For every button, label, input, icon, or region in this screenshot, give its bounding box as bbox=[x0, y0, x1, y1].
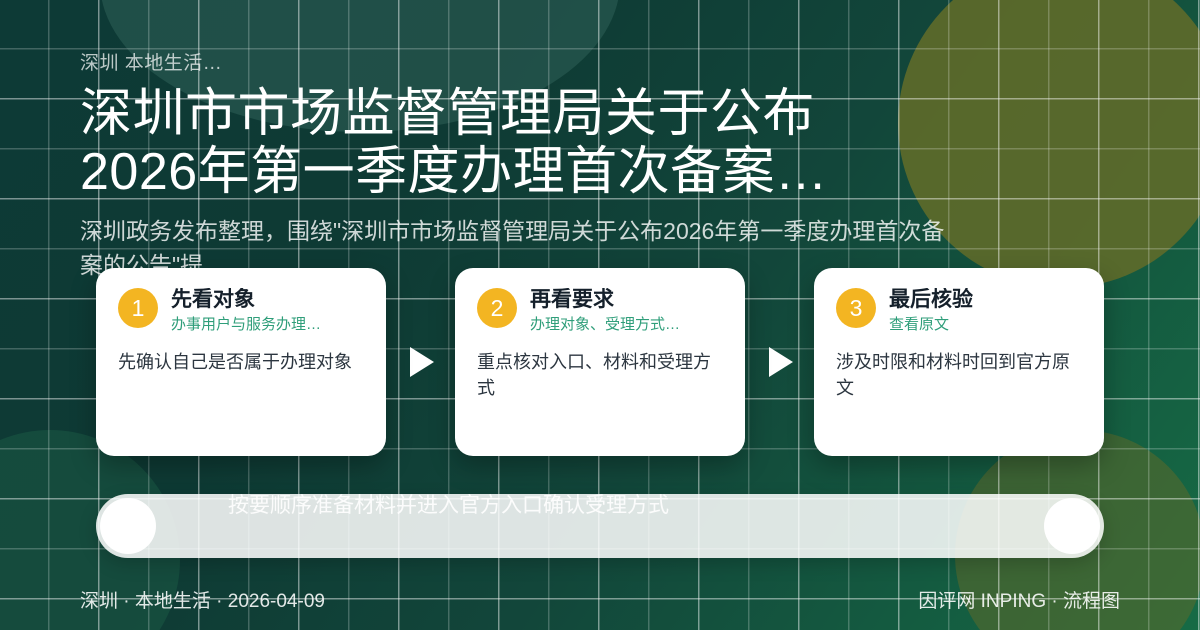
step-card-3-head: 3 最后核验 查看原文 bbox=[836, 288, 1082, 334]
step-card-1-titles: 先看对象 办事用户与服务办理… bbox=[171, 288, 321, 334]
steps-flow: 1 先看对象 办事用户与服务办理… 先确认自己是否属于办理对象 2 再看要求 办… bbox=[96, 268, 1104, 456]
step-subtitle: 办事用户与服务办理… bbox=[171, 316, 321, 334]
step-subtitle: 办理对象、受理方式… bbox=[530, 316, 680, 334]
step-body: 重点核对入口、材料和受理方式 bbox=[477, 350, 723, 401]
flow-arrow-2 bbox=[745, 268, 814, 456]
step-number-badge: 2 bbox=[477, 288, 517, 328]
kicker-label: 深圳 本地生活… bbox=[80, 52, 1120, 77]
step-card-3[interactable]: 3 最后核验 查看原文 涉及时限和材料时回到官方原文 bbox=[814, 268, 1104, 456]
page-title: 深圳市市场监督管理局关于公布2026年第一季度办理首次备案… bbox=[80, 85, 870, 201]
step-body: 涉及时限和材料时回到官方原文 bbox=[836, 350, 1082, 401]
summary-bar: 按要顺序准备材料并进入官方入口确认受理方式 bbox=[96, 494, 1104, 558]
step-card-3-titles: 最后核验 查看原文 bbox=[889, 288, 973, 334]
step-card-2-head: 2 再看要求 办理对象、受理方式… bbox=[477, 288, 723, 334]
step-number-badge: 1 bbox=[118, 288, 158, 328]
step-card-1-head: 1 先看对象 办事用户与服务办理… bbox=[118, 288, 364, 334]
summary-dot-start bbox=[100, 498, 156, 554]
footer: 深圳 · 本地生活 · 2026-04-09 因评网 INPING · 流程图 bbox=[80, 586, 1120, 613]
step-subtitle: 查看原文 bbox=[889, 316, 973, 334]
step-card-2-titles: 再看要求 办理对象、受理方式… bbox=[530, 288, 680, 334]
poster-canvas: 深圳 本地生活… 深圳市市场监督管理局关于公布2026年第一季度办理首次备案… … bbox=[0, 0, 1200, 630]
step-title: 先看对象 bbox=[171, 288, 321, 312]
footer-right: 因评网 INPING · 流程图 bbox=[918, 586, 1120, 613]
summary-text: 按要顺序准备材料并进入官方入口确认受理方式 bbox=[228, 492, 1048, 520]
step-card-1[interactable]: 1 先看对象 办事用户与服务办理… 先确认自己是否属于办理对象 bbox=[96, 268, 386, 456]
header: 深圳 本地生活… 深圳市市场监督管理局关于公布2026年第一季度办理首次备案… … bbox=[80, 52, 1120, 282]
step-card-2[interactable]: 2 再看要求 办理对象、受理方式… 重点核对入口、材料和受理方式 bbox=[455, 268, 745, 456]
step-title: 再看要求 bbox=[530, 288, 680, 312]
summary-dot-end bbox=[1044, 498, 1100, 554]
step-body: 先确认自己是否属于办理对象 bbox=[118, 350, 364, 376]
step-title: 最后核验 bbox=[889, 288, 973, 312]
step-number-badge: 3 bbox=[836, 288, 876, 328]
flow-arrow-1 bbox=[386, 268, 455, 456]
footer-left: 深圳 · 本地生活 · 2026-04-09 bbox=[80, 586, 325, 613]
